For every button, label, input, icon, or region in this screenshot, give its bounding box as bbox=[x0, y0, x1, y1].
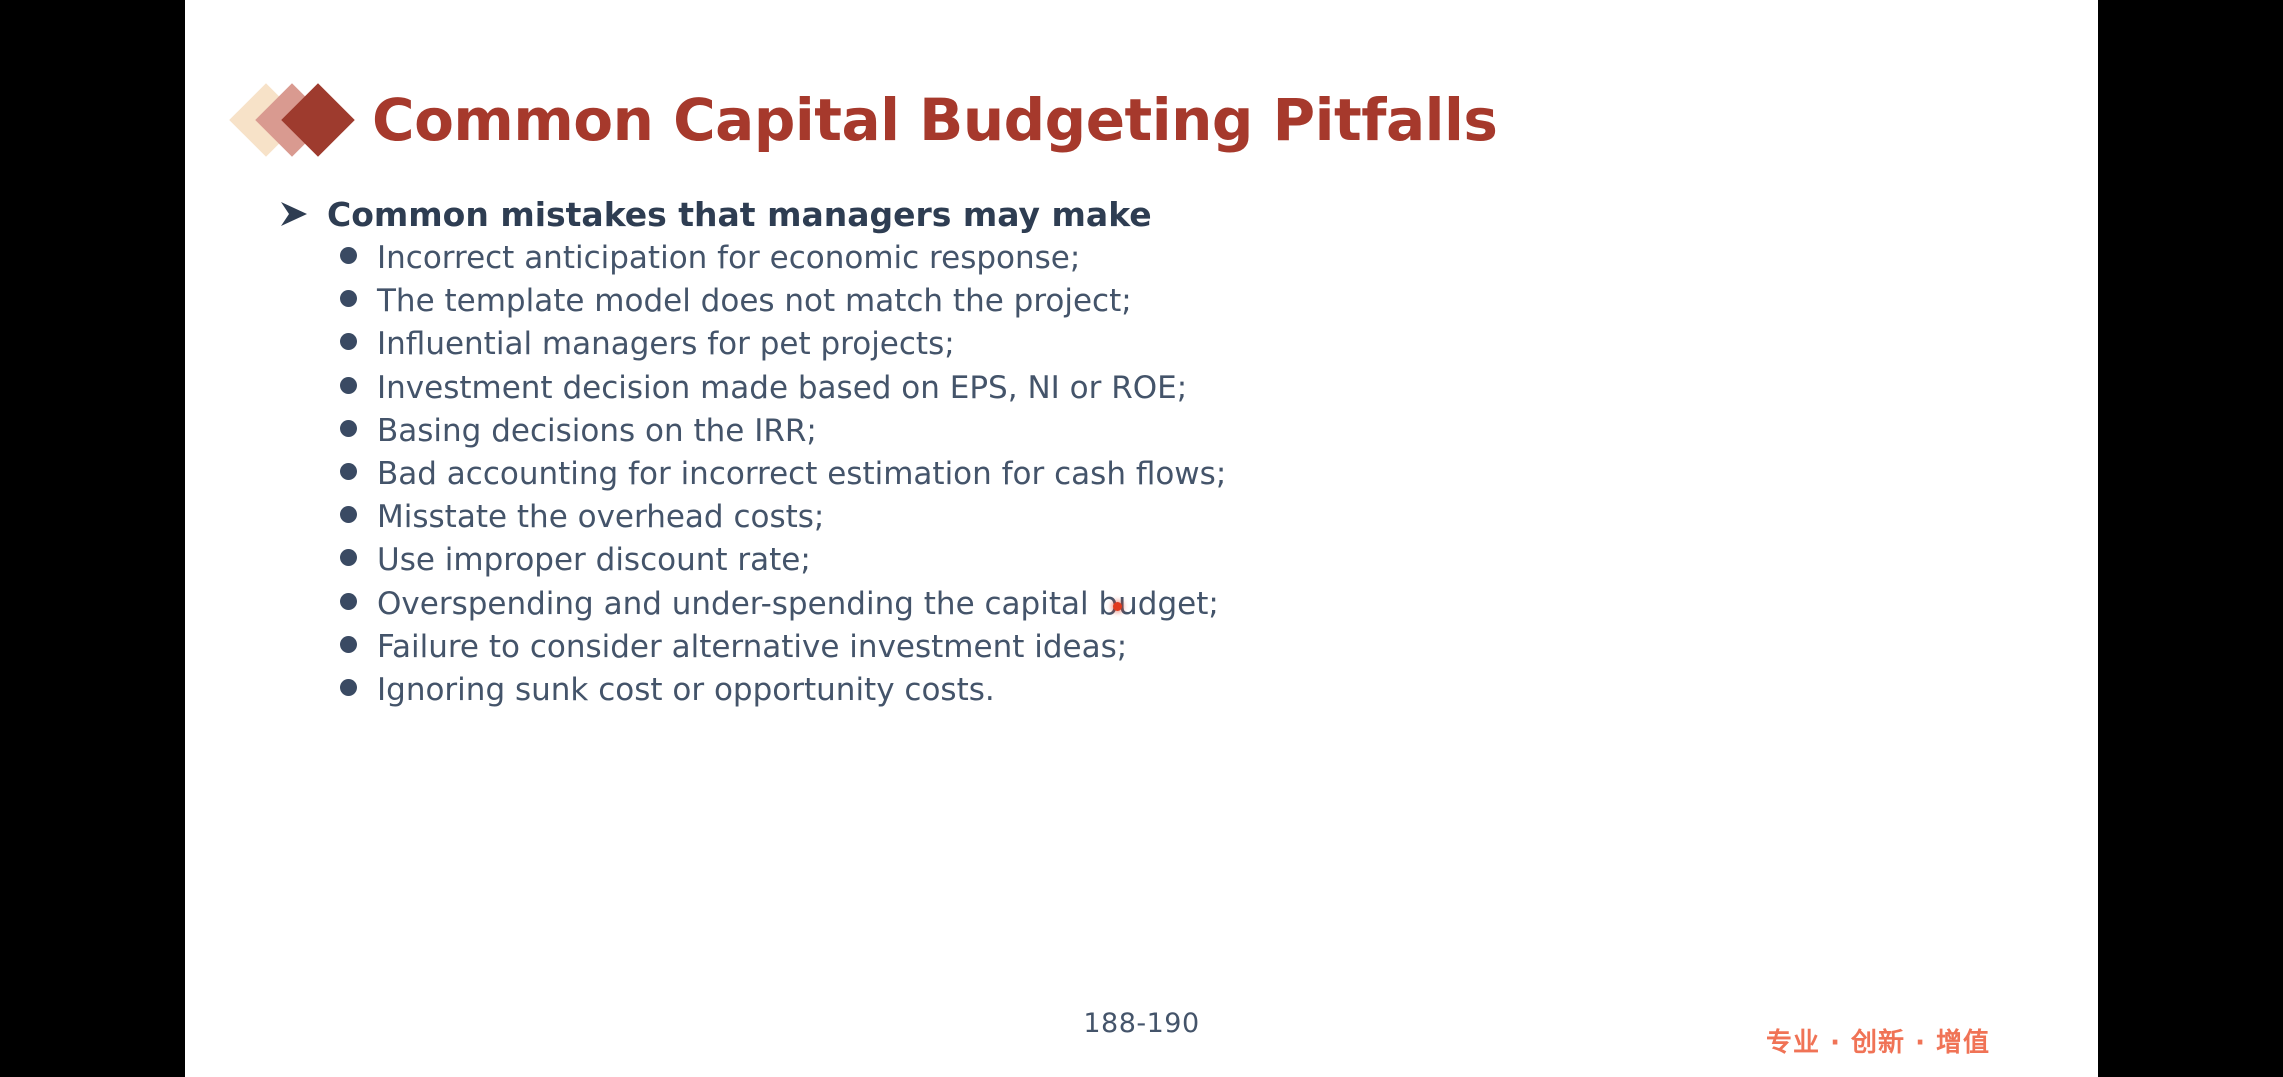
three-diamonds-logo-icon bbox=[240, 85, 358, 155]
list-item-label: Investment decision made based on EPS, N… bbox=[377, 373, 1187, 404]
list-item-label: The template model does not match the pr… bbox=[377, 286, 1132, 317]
list-item: Overspending and under-spending the capi… bbox=[340, 589, 1990, 632]
laser-pointer-dot bbox=[1113, 602, 1122, 611]
list-item: Influential managers for pet projects; bbox=[340, 329, 1990, 372]
list-item-label: Basing decisions on the IRR; bbox=[377, 416, 817, 447]
bullet-dot-icon bbox=[340, 549, 357, 566]
pillarbox-left bbox=[0, 0, 185, 1077]
bullet-dot-icon bbox=[340, 463, 357, 480]
bullet-dot-icon bbox=[340, 333, 357, 350]
page-title: Common Capital Budgeting Pitfalls bbox=[372, 91, 1497, 149]
list-item: Failure to consider alternative investme… bbox=[340, 632, 1990, 675]
list-item: Use improper discount rate; bbox=[340, 545, 1990, 588]
pillarbox-right bbox=[2098, 0, 2283, 1077]
list-item: The template model does not match the pr… bbox=[340, 286, 1990, 329]
list-item: Basing decisions on the IRR; bbox=[340, 416, 1990, 459]
tagline-label: 专业 · 创新 · 增值 bbox=[1766, 1022, 1990, 1059]
bullet-dot-icon bbox=[340, 636, 357, 653]
bullet-dot-icon bbox=[340, 377, 357, 394]
bullet-dot-icon bbox=[340, 247, 357, 264]
slide-canvas: Common Capital Budgeting Pitfalls Common… bbox=[185, 0, 2098, 1077]
bullet-list: Incorrect anticipation for economic resp… bbox=[340, 243, 1990, 718]
list-item-label: Bad accounting for incorrect estimation … bbox=[377, 459, 1226, 490]
slide-title-row: Common Capital Budgeting Pitfalls bbox=[240, 72, 1497, 168]
section-heading-row: Common mistakes that managers may make bbox=[277, 192, 1152, 236]
list-item: Investment decision made based on EPS, N… bbox=[340, 373, 1990, 416]
list-item: Incorrect anticipation for economic resp… bbox=[340, 243, 1990, 286]
bullet-dot-icon bbox=[340, 679, 357, 696]
list-item-label: Overspending and under-spending the capi… bbox=[377, 589, 1219, 620]
arrow-bullet-icon bbox=[277, 199, 311, 229]
list-item-label: Misstate the overhead costs; bbox=[377, 502, 824, 533]
bullet-dot-icon bbox=[340, 506, 357, 523]
bullet-dot-icon bbox=[340, 420, 357, 437]
list-item-label: Ignoring sunk cost or opportunity costs. bbox=[377, 675, 995, 706]
list-item-label: Failure to consider alternative investme… bbox=[377, 632, 1127, 663]
bullet-dot-icon bbox=[340, 290, 357, 307]
presentation-viewer: Common Capital Budgeting Pitfalls Common… bbox=[0, 0, 2283, 1077]
list-item-label: Use improper discount rate; bbox=[377, 545, 811, 576]
list-item: Ignoring sunk cost or opportunity costs. bbox=[340, 675, 1990, 718]
bullet-dot-icon bbox=[340, 593, 357, 610]
section-heading-label: Common mistakes that managers may make bbox=[327, 198, 1152, 231]
list-item: Misstate the overhead costs; bbox=[340, 502, 1990, 545]
list-item: Bad accounting for incorrect estimation … bbox=[340, 459, 1990, 502]
list-item-label: Incorrect anticipation for economic resp… bbox=[377, 243, 1080, 274]
list-item-label: Influential managers for pet projects; bbox=[377, 329, 955, 360]
